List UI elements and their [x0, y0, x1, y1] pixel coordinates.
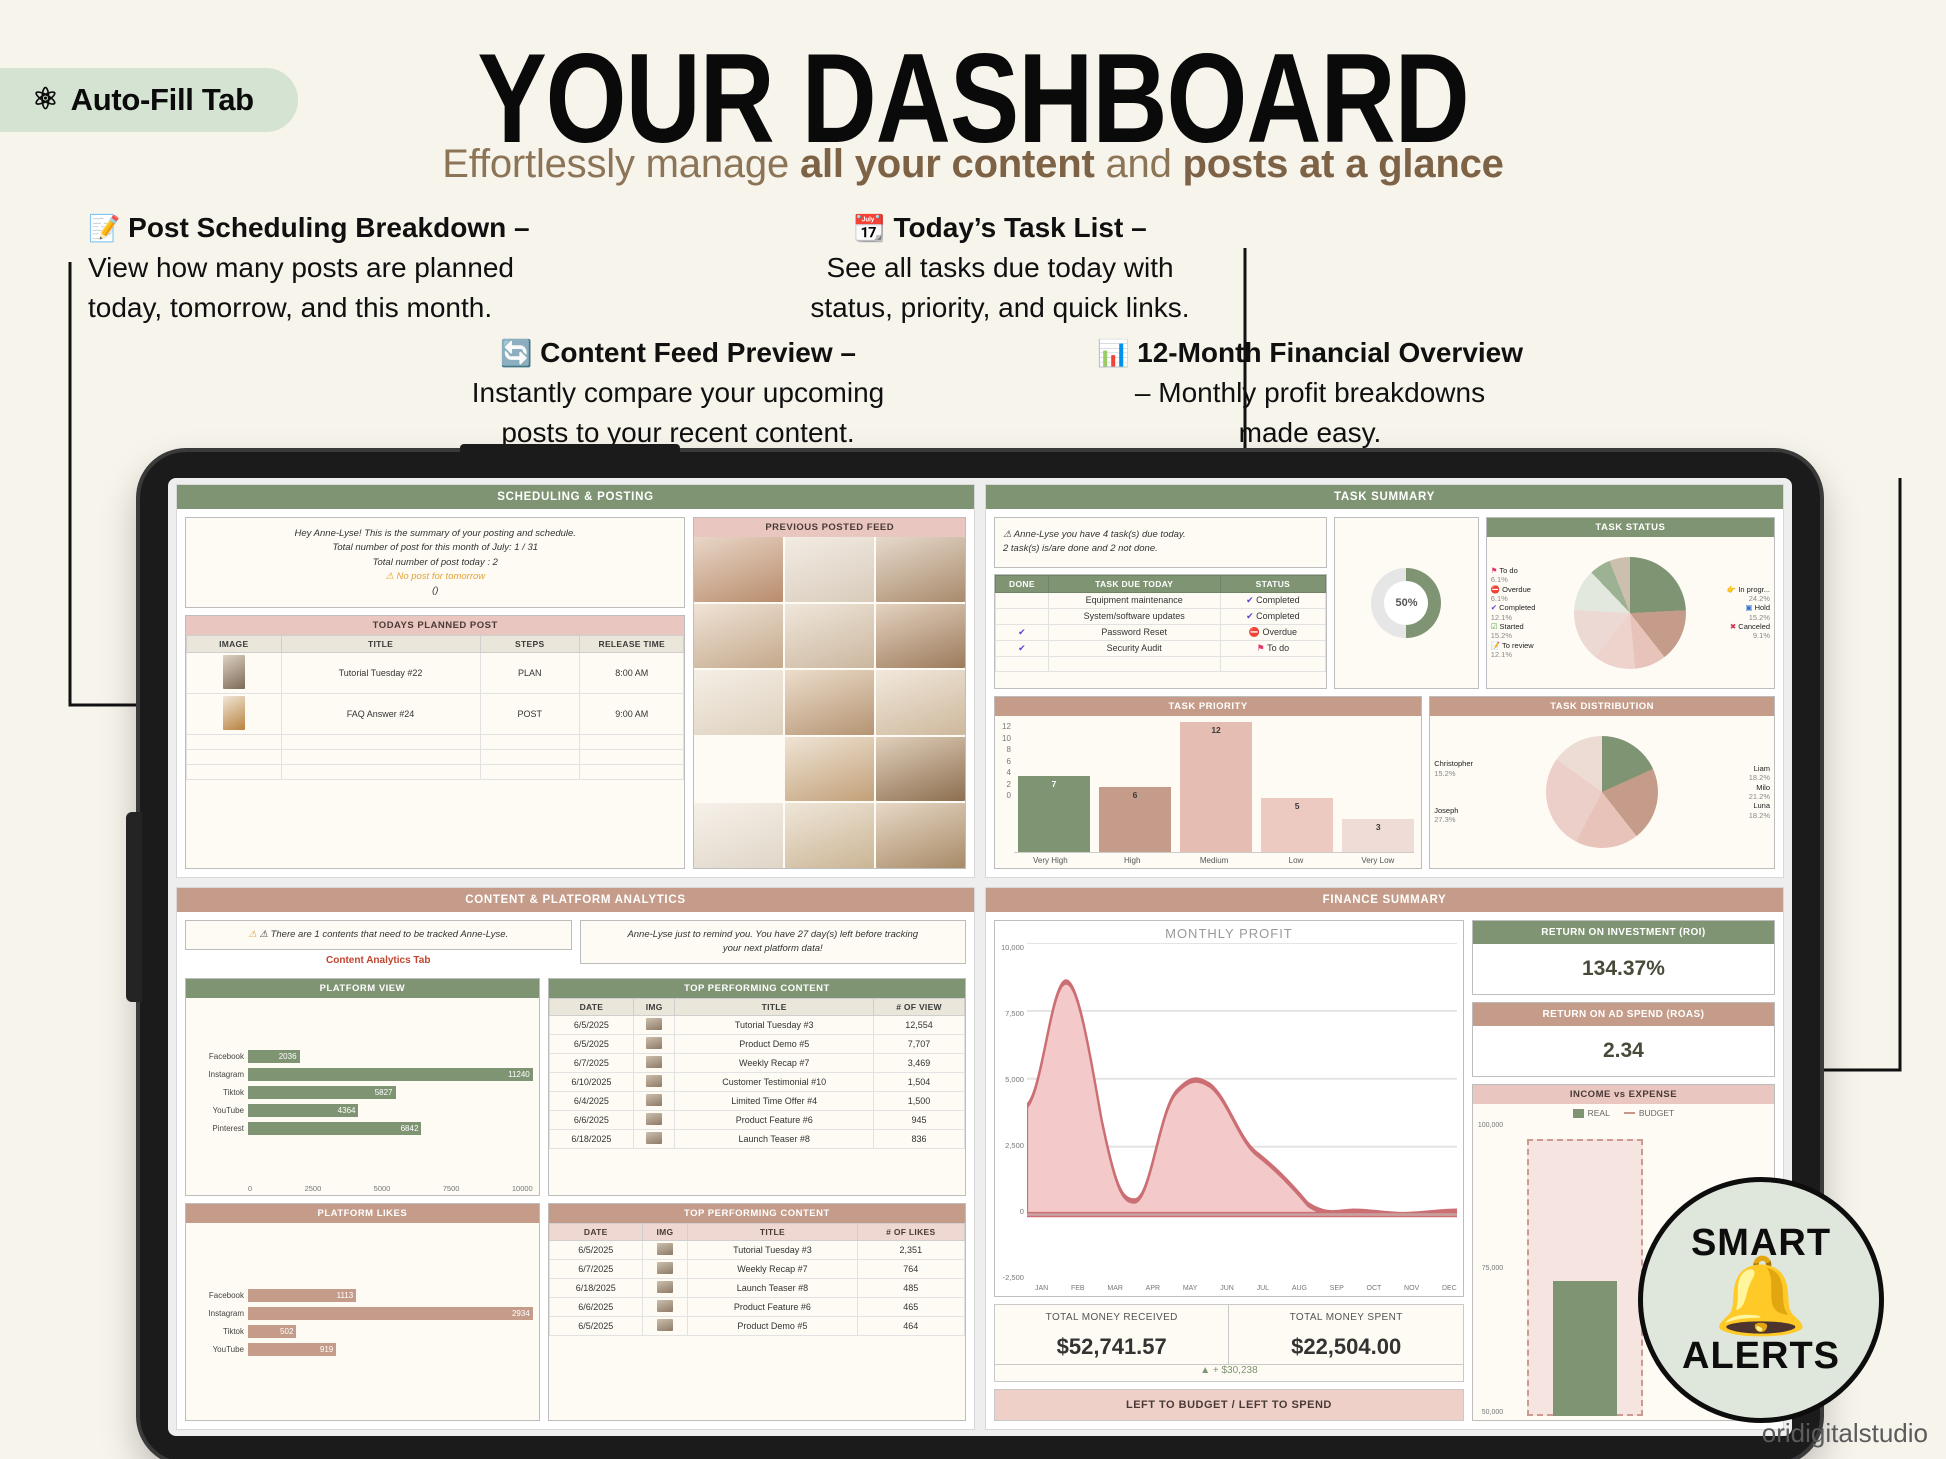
xtick: 2500 — [305, 1184, 322, 1193]
task-status-legend-right: 👉 In progr...24.2% ▣ Hold15.2% ✖ Cancele… — [1688, 585, 1770, 641]
cell-date: 6/6/2025 — [549, 1110, 633, 1129]
chart-title-platform-likes: PLATFORM LIKES — [186, 1204, 539, 1223]
cell-done[interactable]: ✔ — [996, 624, 1049, 640]
cell-date: 6/5/2025 — [549, 1034, 633, 1053]
col-status: STATUS — [1220, 575, 1326, 592]
legend-pct: 15.2% — [1434, 769, 1544, 778]
ytick: 4 — [1002, 768, 1011, 777]
chart-task-priority: TASK PRIORITY 12 10 8 6 4 2 0 — [994, 696, 1422, 868]
cell-title: Tutorial Tuesday #3 — [688, 1240, 857, 1259]
row-thumbnail — [187, 653, 282, 694]
left-column: SCHEDULING & POSTING Hey Anne-Lyse! This… — [176, 484, 975, 1430]
kpi-roas-value: 2.34 — [1473, 1026, 1774, 1076]
refresh-icon: 🔄 — [500, 338, 532, 368]
table-row[interactable]: 6/18/2025Launch Teaser #8485 — [549, 1278, 964, 1297]
legend-label: Overdue — [1502, 585, 1531, 594]
callout-line-1: View how many posts are planned — [88, 248, 530, 288]
scheduling-summary-note: Hey Anne-Lyse! This is the summary of yo… — [185, 517, 685, 608]
cell-date: 6/18/2025 — [549, 1278, 642, 1297]
bar-group: 3 — [1342, 722, 1414, 851]
task-completion-donut: 50% — [1371, 568, 1441, 638]
bar-label: Instagram — [192, 1070, 244, 1079]
col-task: TASK DUE TODAY — [1048, 575, 1220, 592]
cell-value: 764 — [857, 1259, 964, 1278]
cell-thumb — [634, 1053, 675, 1072]
xtick: Very High — [1014, 856, 1087, 865]
bar-row: Facebook1113 — [192, 1289, 533, 1302]
ytick: 10,000 — [1001, 943, 1024, 952]
task-due-today-card: DONE TASK DUE TODAY STATUS Equipment mai… — [994, 574, 1327, 690]
table-row[interactable] — [996, 656, 1326, 671]
cell-value: 945 — [874, 1110, 965, 1129]
legend-pct: 12.1% — [1491, 650, 1573, 659]
cell-title: Tutorial Tuesday #3 — [675, 1015, 874, 1034]
row-steps: POST — [480, 694, 579, 735]
bar-group: 5 — [1261, 722, 1333, 851]
ytick: 8 — [1002, 745, 1011, 754]
col-likes: # OF LIKES — [857, 1223, 964, 1240]
col-img: IMG — [642, 1223, 687, 1240]
bar-label: Tiktok — [192, 1327, 244, 1336]
cell-task: System/software updates — [1048, 608, 1220, 624]
ytick: 5,000 — [1001, 1075, 1024, 1084]
table-row[interactable] — [187, 765, 684, 780]
legend-label: Milo — [1756, 783, 1770, 792]
task-distribution-legend-left: Christopher15.2% Joseph27.3% — [1434, 759, 1544, 825]
top-views-table: DATE IMG TITLE # OF VIEW 6/5/2025Tutoria… — [549, 998, 965, 1149]
legend-label: Hold — [1755, 603, 1770, 612]
cell-thumb — [634, 1015, 675, 1034]
legend-label: In progr... — [1738, 585, 1770, 594]
table-row[interactable]: 6/5/2025Product Demo #5464 — [549, 1316, 964, 1335]
table-row[interactable]: 6/6/2025Product Feature #6945 — [549, 1110, 964, 1129]
legend-label: Liam — [1754, 764, 1770, 773]
cell-title: Customer Testimonial #10 — [675, 1072, 874, 1091]
panel-title-scheduling: SCHEDULING & POSTING — [177, 485, 974, 509]
bar-row: Instagram11240 — [192, 1068, 533, 1081]
table-row[interactable]: 6/5/2025Product Demo #57,707 — [549, 1034, 964, 1053]
chart-task-distribution: TASK DISTRIBUTION Christopher15.2% Josep… — [1429, 696, 1775, 868]
xtick: Low — [1260, 856, 1333, 865]
callout-title: 12-Month Financial Overview — [1137, 337, 1523, 368]
subtitle-bold-1: all your content — [800, 142, 1095, 186]
bar-label: Facebook — [192, 1291, 244, 1300]
tablet-screen: SCHEDULING & POSTING Hey Anne-Lyse! This… — [168, 478, 1792, 1436]
xtick: High — [1096, 856, 1169, 865]
bar-label: YouTube — [192, 1106, 244, 1115]
cell-value: 464 — [857, 1316, 964, 1335]
cell-done[interactable] — [996, 608, 1049, 624]
table-row[interactable]: 6/7/2025Weekly Recap #73,469 — [549, 1053, 964, 1072]
chart-title-task-distribution: TASK DISTRIBUTION — [1430, 697, 1774, 716]
memo-icon: 📝 — [88, 213, 120, 243]
cell-value: 12,554 — [874, 1015, 965, 1034]
chart-task-status: TASK STATUS ⚑ To do6.1% ⛔ Overdue6.1% ✔ … — [1486, 517, 1775, 689]
chart-title-task-priority: TASK PRIORITY — [995, 697, 1421, 716]
cell-status: ⚑ To do — [1220, 640, 1326, 656]
row-thumbnail — [187, 694, 282, 735]
cell-title: Product Demo #5 — [675, 1034, 874, 1053]
col-image: IMAGE — [187, 636, 282, 653]
bar-row: YouTube4364 — [192, 1104, 533, 1117]
chart-title-monthly-profit: MONTHLY PROFIT — [995, 921, 1463, 943]
cell-value: 485 — [857, 1278, 964, 1297]
summary-line: Total number of post today : 2 — [192, 556, 678, 570]
bar-row: Instagram2934 — [192, 1307, 533, 1320]
cell-value: 1,504 — [874, 1072, 965, 1091]
cell-task: Password Reset — [1048, 624, 1220, 640]
cell-task: Security Audit — [1048, 640, 1220, 656]
table-row[interactable]: 6/7/2025Weekly Recap #7764 — [549, 1259, 964, 1278]
monthly-profit-yaxis: 10,000 7,500 5,000 2,500 0 -2,500 — [1001, 943, 1027, 1282]
panel-title-analytics: CONTENT & PLATFORM ANALYTICS — [177, 888, 974, 912]
legend-pct: 18.2% — [1660, 773, 1770, 782]
col-title: TITLE — [281, 636, 480, 653]
status-text: Completed — [1256, 611, 1300, 621]
table-row[interactable]: 6/5/2025Tutorial Tuesday #32,351 — [549, 1240, 964, 1259]
col-views: # OF VIEW — [874, 998, 965, 1015]
task-priority-yaxis: 12 10 8 6 4 2 0 — [1002, 722, 1014, 800]
xtick: Very Low — [1341, 856, 1414, 865]
task-alert: ⚠ Anne-Lyse you have 4 task(s) due today… — [994, 517, 1327, 568]
money-received-value: $52,741.57 — [995, 1334, 1228, 1360]
table-title-top-views: TOP PERFORMING CONTENT — [549, 979, 965, 998]
chart-monthly-profit: MONTHLY PROFIT 10,000 7,500 5,000 2,500 … — [994, 920, 1464, 1297]
callout-line-2: made easy. — [1060, 413, 1560, 453]
monthly-profit-plot — [1027, 943, 1457, 1282]
cell-title: Product Feature #6 — [675, 1110, 874, 1129]
bar-value: 6 — [1099, 790, 1171, 800]
todays-planned-post-table: IMAGE TITLE STEPS RELEASE TIME Tutorial … — [186, 635, 684, 780]
chart-title-task-status: TASK STATUS — [1487, 518, 1774, 537]
cell-date: 6/5/2025 — [549, 1015, 633, 1034]
col-release-time: RELEASE TIME — [579, 636, 683, 653]
ytick: 75,000 — [1478, 1265, 1503, 1272]
table-row[interactable] — [187, 735, 684, 750]
legend-label: Started — [1500, 622, 1524, 631]
money-delta: ▲ + $30,238 — [994, 1365, 1464, 1382]
previous-posted-feed-title: PREVIOUS POSTED FEED — [694, 518, 965, 537]
total-money-received: TOTAL MONEY RECEIVED $52,741.57 — [995, 1305, 1228, 1364]
ytick: 12 — [1002, 722, 1011, 731]
xtick: 7500 — [443, 1184, 460, 1193]
status-text: Completed — [1256, 595, 1300, 605]
callout-todays-task: 📆 Today’s Task List – See all tasks due … — [800, 208, 1200, 327]
cell-value: 465 — [857, 1297, 964, 1316]
cell-value: 3,469 — [874, 1053, 965, 1072]
chart-title-income-expense: INCOME vs EXPENSE — [1473, 1085, 1774, 1104]
analytics-alert: ⚠ ⚠ There are 1 contents that need to be… — [185, 920, 572, 950]
reminder-line-1: Anne-Lyse just to remind you. You have 2… — [586, 928, 961, 942]
cell-title: Limited Time Offer #4 — [675, 1091, 874, 1110]
table-title-top-likes: TOP PERFORMING CONTENT — [549, 1204, 965, 1223]
ytick: -2,500 — [1001, 1273, 1024, 1282]
bar-value: 4364 — [248, 1104, 358, 1117]
xtick: 10000 — [512, 1184, 533, 1193]
summary-line-warning: ⚠ No post for tomorrow — [192, 570, 678, 584]
col-date: DATE — [549, 1223, 642, 1240]
xtick: MAR — [1107, 1285, 1123, 1292]
left-to-budget-header: LEFT TO BUDGET / LEFT TO SPEND — [994, 1389, 1464, 1421]
cell-done[interactable] — [996, 592, 1049, 608]
cell-date: 6/7/2025 — [549, 1259, 642, 1278]
calendar-icon: 📆 — [853, 213, 885, 243]
content-analytics-tab-link[interactable]: Content Analytics Tab — [185, 950, 572, 971]
chart-title-platform-view: PLATFORM VIEW — [186, 979, 539, 998]
task-priority-bars: 7 6 12 5 3 — [1014, 722, 1414, 851]
ytick: 50,000 — [1478, 1409, 1503, 1416]
status-text: To do — [1267, 643, 1289, 653]
col-done: DONE — [996, 575, 1049, 592]
reminder-line-2: your next platform data! — [586, 942, 961, 956]
bar-value: 7 — [1018, 779, 1090, 789]
cell-status: ✔ Completed — [1220, 608, 1326, 624]
cell-thumb — [642, 1297, 687, 1316]
ytick: 0 — [1001, 1207, 1024, 1216]
xtick: JUL — [1257, 1285, 1269, 1292]
xtick: JAN — [1035, 1285, 1048, 1292]
callout-content-feed: 🔄 Content Feed Preview – Instantly compa… — [468, 333, 888, 452]
task-completion-donut-card: 50% — [1334, 517, 1478, 689]
cell-value: 2,351 — [857, 1240, 964, 1259]
cell-thumb — [642, 1316, 687, 1335]
xtick: FEB — [1071, 1285, 1085, 1292]
callout-title: Content Feed Preview – — [540, 337, 856, 368]
legend-label: To review — [1502, 641, 1534, 650]
donut-value: 50% — [1395, 597, 1417, 609]
summary-line: Total number of post for this month of J… — [192, 541, 678, 555]
cell-thumb — [634, 1072, 675, 1091]
legend-pct: 24.2% — [1688, 594, 1770, 603]
xtick: OCT — [1367, 1285, 1382, 1292]
money-totals-card: TOTAL MONEY RECEIVED $52,741.57 TOTAL MO… — [994, 1304, 1464, 1382]
xtick: Medium — [1178, 856, 1251, 865]
feed-image-grid[interactable] — [694, 537, 965, 868]
task-status-legend-left: ⚑ To do6.1% ⛔ Overdue6.1% ✔ Completed12.… — [1491, 566, 1573, 660]
legend-label: Christopher — [1434, 759, 1473, 768]
col-title: TITLE — [675, 998, 874, 1015]
legend-label: Canceled — [1738, 622, 1770, 631]
bar-value: 12 — [1180, 725, 1252, 735]
bar-row: Facebook2036 — [192, 1050, 533, 1063]
table-top-performing-likes: TOP PERFORMING CONTENT DATE IMG TITLE # … — [548, 1203, 966, 1421]
table-row[interactable]: 6/6/2025Product Feature #6465 — [549, 1297, 964, 1316]
xtick: AUG — [1292, 1285, 1307, 1292]
panel-content-platform-analytics: CONTENT & PLATFORM ANALYTICS ⚠ ⚠ There a… — [176, 887, 975, 1430]
xtick: NOV — [1404, 1285, 1419, 1292]
legend-real: REAL — [1588, 1108, 1610, 1118]
cell-date: 6/7/2025 — [549, 1053, 633, 1072]
cell-value: 1,500 — [874, 1091, 965, 1110]
smart-alerts-badge: SMART 🔔 ALERTS — [1638, 1177, 1884, 1423]
cell-title: Weekly Recap #7 — [688, 1259, 857, 1278]
col-img: IMG — [634, 998, 675, 1015]
cell-value: 7,707 — [874, 1034, 965, 1053]
previous-posted-feed-card: PREVIOUS POSTED FEED — [693, 517, 966, 869]
smart-alerts-word-bottom: ALERTS — [1682, 1335, 1840, 1378]
watermark: oridigitalstudio — [1762, 1418, 1928, 1449]
col-steps: STEPS — [480, 636, 579, 653]
ytick: 0 — [1002, 791, 1011, 800]
summary-line: Hey Anne-Lyse! This is the summary of yo… — [192, 527, 678, 541]
ytick: 6 — [1002, 757, 1011, 766]
subtitle-pre: Effortlessly manage — [442, 142, 800, 186]
bar-label: Instagram — [192, 1309, 244, 1318]
bar-label: Facebook — [192, 1052, 244, 1061]
legend-pct: 6.1% — [1491, 594, 1573, 603]
panel-body-scheduling: Hey Anne-Lyse! This is the summary of yo… — [177, 509, 974, 877]
chart-platform-likes: PLATFORM LIKES Facebook1113 Instagram293… — [185, 1203, 540, 1421]
legend-label: Joseph — [1434, 806, 1458, 815]
row-time: 8:00 AM — [579, 653, 683, 694]
task-alert-line-1: ⚠ Anne-Lyse you have 4 task(s) due today… — [1003, 528, 1318, 542]
money-spent-value: $22,504.00 — [1229, 1334, 1462, 1360]
xtick: APR — [1146, 1285, 1160, 1292]
bar-row: YouTube919 — [192, 1343, 533, 1356]
ytick: 2 — [1002, 780, 1011, 789]
chart-platform-view: PLATFORM VIEW Facebook2036 Instagram1124… — [185, 978, 540, 1196]
cell-thumb — [634, 1129, 675, 1148]
ytick: 10 — [1002, 734, 1011, 743]
table-row[interactable]: ✔Security Audit⚑ To do — [996, 640, 1326, 656]
ytick: 100,000 — [1478, 1122, 1503, 1129]
total-money-spent: TOTAL MONEY SPENT $22,504.00 — [1229, 1305, 1462, 1364]
cell-date: 6/10/2025 — [549, 1072, 633, 1091]
page-subtitle: Effortlessly manage all your content and… — [0, 142, 1946, 187]
xtick: SEP — [1330, 1285, 1344, 1292]
bar-value: 3 — [1342, 822, 1414, 832]
cell-thumb — [642, 1259, 687, 1278]
xtick: MAY — [1183, 1285, 1198, 1292]
table-row[interactable]: FAQ Answer #24 POST 9:00 AM — [187, 694, 684, 735]
task-due-today-table: DONE TASK DUE TODAY STATUS Equipment mai… — [995, 575, 1326, 672]
col-date: DATE — [549, 998, 633, 1015]
todays-planned-post-card: TODAYS PLANNED POST IMAGE TITLE STEPS RE… — [185, 615, 685, 868]
callout-post-scheduling: 📝 Post Scheduling Breakdown – View how m… — [88, 208, 530, 327]
bar-label: Tiktok — [192, 1088, 244, 1097]
top-likes-table: DATE IMG TITLE # OF LIKES 6/5/2025Tutori… — [549, 1223, 965, 1336]
cell-done[interactable]: ✔ — [996, 640, 1049, 656]
table-row[interactable]: Equipment maintenance✔ Completed — [996, 592, 1326, 608]
callout-line-1: – Monthly profit breakdowns — [1060, 373, 1560, 413]
bar-group: 6 — [1099, 722, 1171, 851]
legend-pct: 27.3% — [1434, 815, 1544, 824]
table-row[interactable]: ✔Password Reset⛔ Overdue — [996, 624, 1326, 640]
todays-planned-post-title: TODAYS PLANNED POST — [186, 616, 684, 635]
platform-likes-bars: Facebook1113 Instagram2934 Tiktok502 You… — [192, 1228, 533, 1418]
bar-value: 919 — [248, 1343, 336, 1356]
analytics-alert-text: ⚠ There are 1 contents that need to be t… — [259, 929, 508, 940]
cell-title: Launch Teaser #8 — [688, 1278, 857, 1297]
ytick: 7,500 — [1001, 1009, 1024, 1018]
legend-pct: 15.2% — [1491, 631, 1573, 640]
legend-label: Completed — [1499, 603, 1535, 612]
analytics-reminder: Anne-Lyse just to remind you. You have 2… — [580, 920, 967, 965]
legend-pct: 6.1% — [1491, 575, 1573, 584]
legend-budget: BUDGET — [1639, 1108, 1674, 1118]
table-row[interactable]: 6/10/2025Customer Testimonial #101,504 — [549, 1072, 964, 1091]
panel-title-task-summary: TASK SUMMARY — [986, 485, 1783, 509]
subtitle-bold-2: posts at a glance — [1183, 142, 1504, 186]
table-row[interactable]: Tutorial Tuesday #22 PLAN 8:00 AM — [187, 653, 684, 694]
callout-line-2: status, priority, and quick links. — [800, 288, 1200, 328]
cell-date: 6/4/2025 — [549, 1091, 633, 1110]
bar-row: Tiktok5827 — [192, 1086, 533, 1099]
row-title: FAQ Answer #24 — [281, 694, 480, 735]
cell-thumb — [642, 1278, 687, 1297]
panel-body-analytics: ⚠ ⚠ There are 1 contents that need to be… — [177, 912, 974, 1429]
table-row[interactable]: 6/5/2025Tutorial Tuesday #312,554 — [549, 1015, 964, 1034]
legend-pct: 12.1% — [1491, 613, 1573, 622]
cell-thumb — [642, 1240, 687, 1259]
cell-title: Launch Teaser #8 — [675, 1129, 874, 1148]
cell-thumb — [634, 1091, 675, 1110]
col-title: TITLE — [688, 1223, 857, 1240]
legend-label: Luna — [1753, 801, 1770, 810]
cell-status: ✔ Completed — [1220, 592, 1326, 608]
bar-value: 1113 — [248, 1289, 356, 1302]
panel-task-summary: TASK SUMMARY ⚠ Anne-Lyse you have 4 task… — [985, 484, 1784, 878]
cell-date: 6/18/2025 — [549, 1129, 633, 1148]
cell-thumb — [634, 1110, 675, 1129]
callout-title: Today’s Task List – — [894, 212, 1147, 243]
kpi-roi: RETURN ON INVESTMENT (ROI) 134.37% — [1472, 920, 1775, 995]
bar-value: 6842 — [248, 1122, 421, 1135]
panel-body-task-summary: ⚠ Anne-Lyse you have 4 task(s) due today… — [986, 509, 1783, 877]
xtick: DEC — [1442, 1285, 1457, 1292]
bar-group: 12 — [1180, 722, 1252, 851]
bar-value: 11240 — [248, 1068, 533, 1081]
table-row[interactable]: System/software updates✔ Completed — [996, 608, 1326, 624]
bar-value: 5 — [1261, 801, 1333, 811]
cell-thumb — [634, 1034, 675, 1053]
legend-pct: 9.1% — [1688, 631, 1770, 640]
cell-date: 6/5/2025 — [549, 1240, 642, 1259]
cell-date: 6/5/2025 — [549, 1316, 642, 1335]
legend-pct: 18.2% — [1660, 811, 1770, 820]
xtick: 5000 — [374, 1184, 391, 1193]
table-row[interactable]: 6/4/2025Limited Time Offer #41,500 — [549, 1091, 964, 1110]
table-row[interactable]: 6/18/2025Launch Teaser #8836 — [549, 1129, 964, 1148]
legend-pct: 21.2% — [1660, 792, 1770, 801]
income-expense-yaxis: 100,000 75,000 50,000 — [1478, 1122, 1506, 1416]
platform-view-xaxis: 0 2500 5000 7500 10000 — [248, 1184, 533, 1193]
callout-line-2: today, tomorrow, and this month. — [88, 288, 530, 328]
task-status-pie — [1574, 557, 1686, 669]
ytick: 2,500 — [1001, 1141, 1024, 1150]
table-top-performing-views: TOP PERFORMING CONTENT DATE IMG TITLE # … — [548, 978, 966, 1196]
task-distribution-pie — [1546, 736, 1658, 848]
row-time: 9:00 AM — [579, 694, 683, 735]
status-text: Overdue — [1262, 627, 1297, 637]
money-received-label: TOTAL MONEY RECEIVED — [995, 1312, 1228, 1323]
task-alert-line-2: 2 task(s) is/are done and 2 not done. — [1003, 542, 1318, 556]
cell-task: Equipment maintenance — [1048, 592, 1220, 608]
cell-status: ⛔ Overdue — [1220, 624, 1326, 640]
callout-title: Post Scheduling Breakdown – — [128, 212, 529, 243]
tablet-device: SCHEDULING & POSTING Hey Anne-Lyse! This… — [140, 452, 1820, 1459]
table-row[interactable] — [187, 750, 684, 765]
income-expense-legend: REAL BUDGET — [1473, 1104, 1774, 1122]
bar-value: 5827 — [248, 1086, 396, 1099]
bar-value: 2934 — [248, 1307, 533, 1320]
tablet-side-button[interactable] — [126, 812, 142, 1002]
kpi-roi-value: 134.37% — [1473, 944, 1774, 994]
cell-value: 836 — [874, 1129, 965, 1148]
bar-row: Tiktok502 — [192, 1325, 533, 1338]
xtick: JUN — [1220, 1285, 1234, 1292]
cell-title: Weekly Recap #7 — [675, 1053, 874, 1072]
